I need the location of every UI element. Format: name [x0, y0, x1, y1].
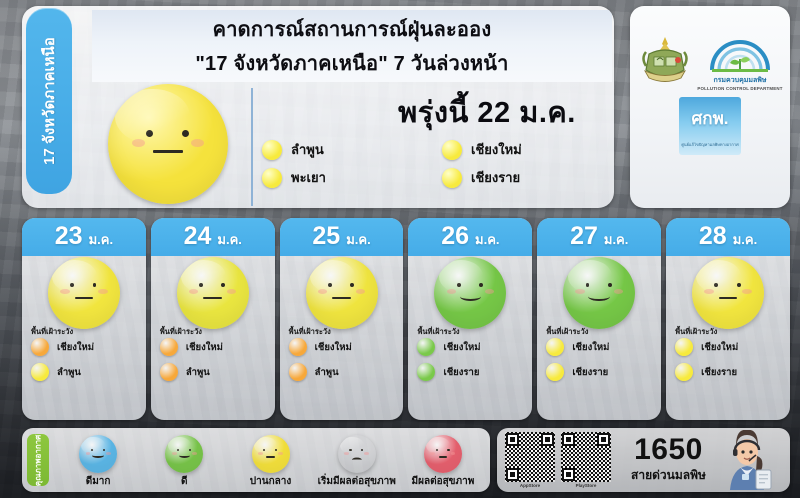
forecast-card-26: 26ม.ค.พื้นที่เฝ้าระวังเชียงใหม่เชียงราย	[408, 218, 532, 420]
watch-area-list: เชียงใหม่เชียงราย	[417, 338, 480, 381]
call-center-operator-icon	[716, 430, 778, 490]
logo-panel: กรมควบคุมมลพิษ POLLUTION CONTROL DEPARTM…	[630, 6, 790, 208]
watch-area-label: พื้นที่เฝ้าระวัง	[546, 326, 588, 338]
watch-area-label: พื้นที่เฝ้าระวัง	[675, 326, 717, 338]
status-dot	[442, 140, 462, 160]
sakapa-logo: ศกพ. ศูนย์แก้ไขปัญหามลพิษทางอากาศ	[679, 97, 741, 155]
region-tab-label: 17 จังหวัดภาคเหนือ	[37, 37, 61, 165]
legend-item-4: มีผลต่อสุขภาพ	[400, 435, 486, 489]
list-item: พะเยา	[262, 167, 442, 188]
status-dot	[262, 168, 282, 188]
card-month: ม.ค.	[733, 229, 758, 250]
legend-items: ดีมากดีปานกลางเริ่มมีผลต่อสุขภาพมีผลต่อส…	[49, 428, 490, 492]
status-dot	[31, 363, 49, 381]
province-label: เชียงใหม่	[57, 340, 94, 355]
pcd-name-th: กรมควบคุมมลพิษ	[713, 75, 766, 86]
card-date-header: 25ม.ค.	[280, 218, 404, 256]
qr-appstore-label: AppStore	[520, 483, 540, 488]
status-dot	[442, 168, 462, 188]
province-label: ลำพูน	[186, 365, 210, 380]
card-date-header: 24ม.ค.	[151, 218, 275, 256]
legend-item-label: ปานกลาง	[250, 474, 291, 489]
province-label: เชียงใหม่	[443, 340, 480, 355]
hero-panel: คาดการณ์สถานการณ์ฝุ่นละออง "17 จังหวัดภา…	[22, 6, 614, 208]
watch-area-list: เชียงใหม่เชียงราย	[675, 338, 738, 381]
qr-playstore-label: PlayStore	[576, 483, 597, 488]
card-face	[22, 257, 146, 329]
legend-tab-label: คุณภาพอากาศ	[32, 434, 45, 486]
legend-item-label: ดีมาก	[86, 474, 111, 489]
status-dot	[289, 363, 307, 381]
list-item: เชียงใหม่	[675, 338, 738, 356]
tomorrow-province-list: ลำพูน พะเยา เชียงใหม่ เชียงราย	[262, 139, 614, 188]
hotline-number: 1650	[634, 435, 703, 465]
forecast-card-23: 23ม.ค.พื้นที่เฝ้าระวังเชียงใหม่ลำพูน	[22, 218, 146, 420]
legend-tab: คุณภาพอากาศ	[27, 434, 49, 486]
card-day-number: 24	[184, 222, 212, 251]
hero-divider	[251, 88, 253, 206]
qr-playstore[interactable]: PlayStore	[561, 432, 611, 488]
card-month: ม.ค.	[217, 229, 242, 250]
card-face	[537, 257, 661, 329]
status-dot	[546, 363, 564, 381]
status-dot	[675, 363, 693, 381]
province-label: เชียงใหม่	[701, 340, 738, 355]
province-label: ลำพูน	[291, 139, 324, 160]
status-dot	[417, 338, 435, 356]
card-date-header: 27ม.ค.	[537, 218, 661, 256]
legend-item-label: มีผลต่อสุขภาพ	[412, 474, 475, 489]
hotline-number-block: 1650 สายด่วนมลพิษ	[631, 435, 706, 485]
forecast-card-27: 27ม.ค.พื้นที่เฝ้าระวังเชียงใหม่เชียงราย	[537, 218, 661, 420]
qr-appstore[interactable]: AppStore	[505, 432, 555, 488]
legend-item-2: ปานกลาง	[227, 435, 313, 489]
list-item: ลำพูน	[289, 363, 352, 381]
list-item: เชียงราย	[442, 167, 614, 188]
card-day-number: 27	[570, 222, 598, 251]
forecast-card-25: 25ม.ค.พื้นที่เฝ้าระวังเชียงใหม่ลำพูน	[280, 218, 404, 420]
infographic-root: คาดการณ์สถานการณ์ฝุ่นละออง "17 จังหวัดภา…	[0, 0, 800, 498]
list-item: เชียงใหม่	[160, 338, 223, 356]
card-face	[666, 257, 790, 329]
province-label: พะเยา	[291, 167, 326, 188]
card-day-number: 23	[55, 222, 83, 251]
tomorrow-label: พรุ่งนี้ 22 ม.ค.	[352, 89, 614, 135]
title-line-1: คาดการณ์สถานการณ์ฝุ่นละออง	[213, 13, 492, 45]
card-date-header: 26ม.ค.	[408, 218, 532, 256]
card-month: ม.ค.	[346, 229, 371, 250]
card-day-number: 26	[441, 222, 469, 251]
card-face	[151, 257, 275, 329]
legend-item-3: เริ่มมีผลต่อสุขภาพ	[314, 435, 400, 489]
province-label: ลำพูน	[315, 365, 339, 380]
list-item: ลำพูน	[262, 139, 442, 160]
qr-code-icon[interactable]	[561, 432, 611, 482]
watch-area-list: เชียงใหม่เชียงราย	[546, 338, 609, 381]
watch-area-list: เชียงใหม่ลำพูน	[31, 338, 94, 381]
province-label: เชียงราย	[443, 365, 479, 380]
hotline-panel: AppStore PlayStore 1650 สายด่วนมลพิษ	[497, 428, 790, 492]
watch-area-label: พื้นที่เฝ้าระวัง	[417, 326, 459, 338]
province-label: เชียงราย	[701, 365, 737, 380]
card-date-header: 28ม.ค.	[666, 218, 790, 256]
province-label: เชียงใหม่	[315, 340, 352, 355]
list-item: เชียงใหม่	[417, 338, 480, 356]
legend-item-label: เริ่มมีผลต่อสุขภาพ	[318, 474, 396, 489]
status-dot	[417, 363, 435, 381]
province-label: เชียงใหม่	[471, 139, 522, 160]
card-day-number: 28	[699, 222, 727, 251]
province-label: เชียงใหม่	[572, 340, 609, 355]
legend-item-label: ดี	[181, 474, 188, 489]
list-item: ลำพูน	[160, 363, 223, 381]
legend-item-1: ดี	[141, 435, 227, 489]
list-item: เชียงราย	[546, 363, 609, 381]
legend-bar: คุณภาพอากาศ ดีมากดีปานกลางเริ่มมีผลต่อสุ…	[22, 428, 490, 492]
pcd-logo-icon	[707, 32, 773, 74]
status-dot	[675, 338, 693, 356]
hero-face	[108, 84, 228, 204]
status-dot	[289, 338, 307, 356]
status-dot	[31, 338, 49, 356]
status-dot	[262, 140, 282, 160]
list-item: ลำพูน	[31, 363, 94, 381]
watch-area-list: เชียงใหม่ลำพูน	[289, 338, 352, 381]
card-date-header: 23ม.ค.	[22, 218, 146, 256]
qr-code-icon[interactable]	[505, 432, 555, 482]
watch-area-list: เชียงใหม่ลำพูน	[160, 338, 223, 381]
forecast-card-24: 24ม.ค.พื้นที่เฝ้าระวังเชียงใหม่ลำพูน	[151, 218, 275, 420]
region-tab: 17 จังหวัดภาคเหนือ	[26, 8, 72, 194]
legend-item-0: ดีมาก	[55, 435, 141, 489]
list-item: เชียงราย	[675, 363, 738, 381]
province-label: เชียงราย	[471, 167, 520, 188]
list-item: เชียงใหม่	[442, 139, 614, 160]
status-dot	[160, 363, 178, 381]
status-dot	[546, 338, 564, 356]
list-item: เชียงใหม่	[31, 338, 94, 356]
sakapa-label: ศกพ.	[691, 105, 728, 132]
province-label: เชียงใหม่	[186, 340, 223, 355]
status-dot	[160, 338, 178, 356]
royal-emblem-icon	[637, 34, 693, 90]
card-day-number: 25	[312, 222, 340, 251]
watch-area-label: พื้นที่เฝ้าระวัง	[289, 326, 331, 338]
list-item: เชียงราย	[417, 363, 480, 381]
list-item: เชียงใหม่	[289, 338, 352, 356]
watch-area-label: พื้นที่เฝ้าระวัง	[31, 326, 73, 338]
pcd-name-en: POLLUTION CONTROL DEPARTMENT	[697, 86, 782, 91]
page-title: คาดการณ์สถานการณ์ฝุ่นละออง "17 จังหวัดภา…	[92, 10, 612, 82]
forecast-card-28: 28ม.ค.พื้นที่เฝ้าระวังเชียงใหม่เชียงราย	[666, 218, 790, 420]
watch-area-label: พื้นที่เฝ้าระวัง	[160, 326, 202, 338]
forecast-day-cards: 23ม.ค.พื้นที่เฝ้าระวังเชียงใหม่ลำพูน24ม.…	[22, 218, 790, 420]
province-label: เชียงราย	[572, 365, 608, 380]
card-face	[280, 257, 404, 329]
title-line-2: "17 จังหวัดภาคเหนือ" 7 วันล่วงหน้า	[195, 47, 508, 79]
card-month: ม.ค.	[475, 229, 500, 250]
hotline-caption: สายด่วนมลพิษ	[631, 466, 706, 485]
card-month: ม.ค.	[604, 229, 629, 250]
card-face	[408, 257, 532, 329]
list-item: เชียงใหม่	[546, 338, 609, 356]
province-label: ลำพูน	[57, 365, 81, 380]
card-month: ม.ค.	[89, 229, 114, 250]
